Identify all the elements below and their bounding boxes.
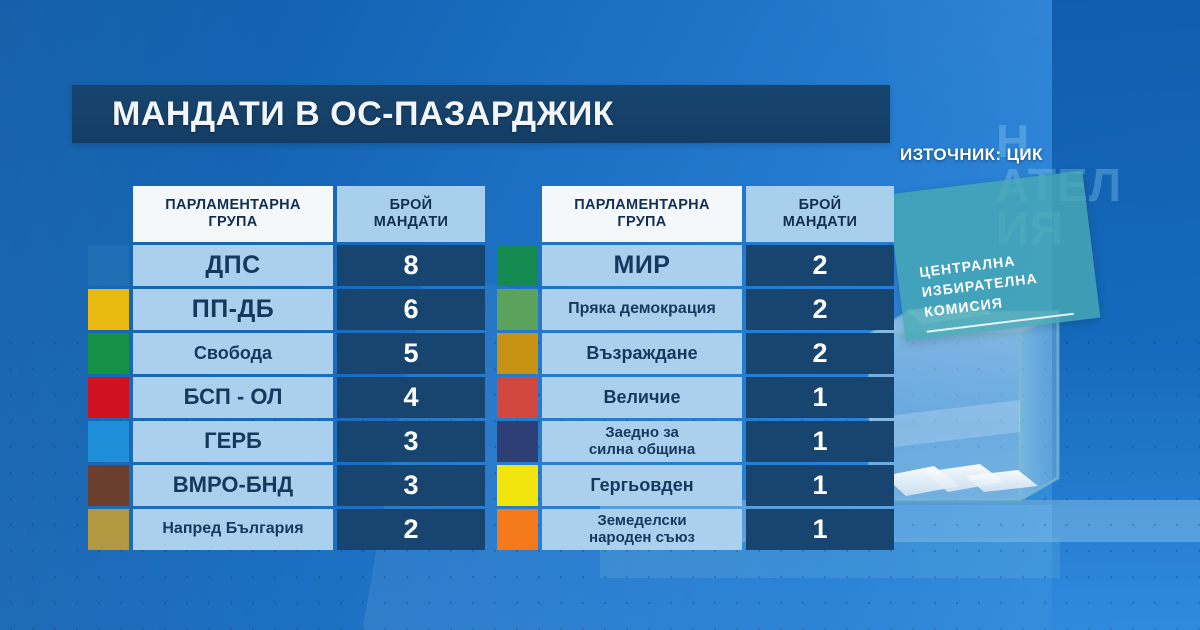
- table-row: Свобода5: [88, 333, 485, 374]
- seat-count-cell: 1: [746, 509, 894, 550]
- party-name-cell: Пряка демокрация: [542, 289, 742, 330]
- column-header-party: ПАРЛАМЕНТАРНА ГРУПА: [133, 186, 333, 242]
- table-row: ГЕРБ3: [88, 421, 485, 462]
- party-name-cell: Напред България: [133, 509, 333, 550]
- column-header-seats: БРОЙ МАНДАТИ: [337, 186, 485, 242]
- party-color-swatch: [497, 377, 538, 418]
- party-name-cell: Свобода: [133, 333, 333, 374]
- party-color-swatch: [497, 421, 538, 462]
- party-color-swatch: [497, 289, 538, 330]
- table-row: Земеделски народен съюз1: [497, 509, 894, 550]
- seat-count-cell: 3: [337, 421, 485, 462]
- party-color-swatch: [88, 289, 129, 330]
- party-color-swatch: [88, 421, 129, 462]
- table-row: БСП - ОЛ4: [88, 377, 485, 418]
- party-color-swatch: [88, 333, 129, 374]
- column-header-party: ПАРЛАМЕНТАРНА ГРУПА: [542, 186, 742, 242]
- seat-count-cell: 1: [746, 421, 894, 462]
- source-label: ИЗТОЧНИК: ЦИК: [900, 145, 1043, 165]
- seat-count-cell: 2: [337, 509, 485, 550]
- seat-count-cell: 4: [337, 377, 485, 418]
- table-row: Заедно за силна община1: [497, 421, 894, 462]
- table-row: Гергьовден1: [497, 465, 894, 506]
- table-header-row: ПАРЛАМЕНТАРНА ГРУПАБРОЙ МАНДАТИ: [542, 186, 894, 242]
- infographic-canvas: Н АТЕЛ ИЯ: [0, 0, 1200, 630]
- party-color-swatch: [88, 377, 129, 418]
- table-row: МИР2: [497, 245, 894, 286]
- table-header-row: ПАРЛАМЕНТАРНА ГРУПАБРОЙ МАНДАТИ: [133, 186, 485, 242]
- seat-count-cell: 3: [337, 465, 485, 506]
- party-name-cell: БСП - ОЛ: [133, 377, 333, 418]
- party-name-cell: Гергьовден: [542, 465, 742, 506]
- seat-count-cell: 5: [337, 333, 485, 374]
- seat-count-cell: 8: [337, 245, 485, 286]
- table-row: Напред България2: [88, 509, 485, 550]
- party-name-cell: ВМРО-БНД: [133, 465, 333, 506]
- party-color-swatch: [497, 465, 538, 506]
- seat-count-cell: 6: [337, 289, 485, 330]
- party-color-swatch: [497, 333, 538, 374]
- table-row: ВМРО-БНД3: [88, 465, 485, 506]
- party-color-swatch: [497, 245, 538, 286]
- party-name-cell: Заедно за силна община: [542, 421, 742, 462]
- seat-count-cell: 1: [746, 465, 894, 506]
- column-header-seats: БРОЙ МАНДАТИ: [746, 186, 894, 242]
- page-title: МАНДАТИ В ОС-ПАЗАРДЖИК: [112, 95, 614, 134]
- seat-count-cell: 2: [746, 333, 894, 374]
- table-row: Пряка демокрация2: [497, 289, 894, 330]
- ballot-box-graphic: [862, 300, 1112, 560]
- seat-count-cell: 2: [746, 289, 894, 330]
- table-row: Величие1: [497, 377, 894, 418]
- page-title-bar: МАНДАТИ В ОС-ПАЗАРДЖИК: [72, 85, 890, 143]
- table-row: ПП-ДБ6: [88, 289, 485, 330]
- cik-logo: ЦЕНТРАЛНА ИЗБИРАТЕЛНА КОМИСИЯ: [888, 171, 1101, 342]
- party-name-cell: Възраждане: [542, 333, 742, 374]
- mandates-table-right: ПАРЛАМЕНТАРНА ГРУПАБРОЙ МАНДАТИМИР2Пряка…: [497, 186, 894, 550]
- seat-count-cell: 1: [746, 377, 894, 418]
- seat-count-cell: 2: [746, 245, 894, 286]
- party-name-cell: Земеделски народен съюз: [542, 509, 742, 550]
- party-name-cell: ДПС: [133, 245, 333, 286]
- party-color-swatch: [88, 509, 129, 550]
- party-color-swatch: [88, 465, 129, 506]
- party-name-cell: МИР: [542, 245, 742, 286]
- party-color-swatch: [497, 509, 538, 550]
- party-color-swatch: [88, 245, 129, 286]
- ballot-box-icon: [862, 300, 1112, 560]
- table-row: ДПС8: [88, 245, 485, 286]
- party-name-cell: ПП-ДБ: [133, 289, 333, 330]
- party-name-cell: ГЕРБ: [133, 421, 333, 462]
- party-name-cell: Величие: [542, 377, 742, 418]
- mandates-table-left: ПАРЛАМЕНТАРНА ГРУПАБРОЙ МАНДАТИДПС8ПП-ДБ…: [88, 186, 485, 550]
- table-row: Възраждане2: [497, 333, 894, 374]
